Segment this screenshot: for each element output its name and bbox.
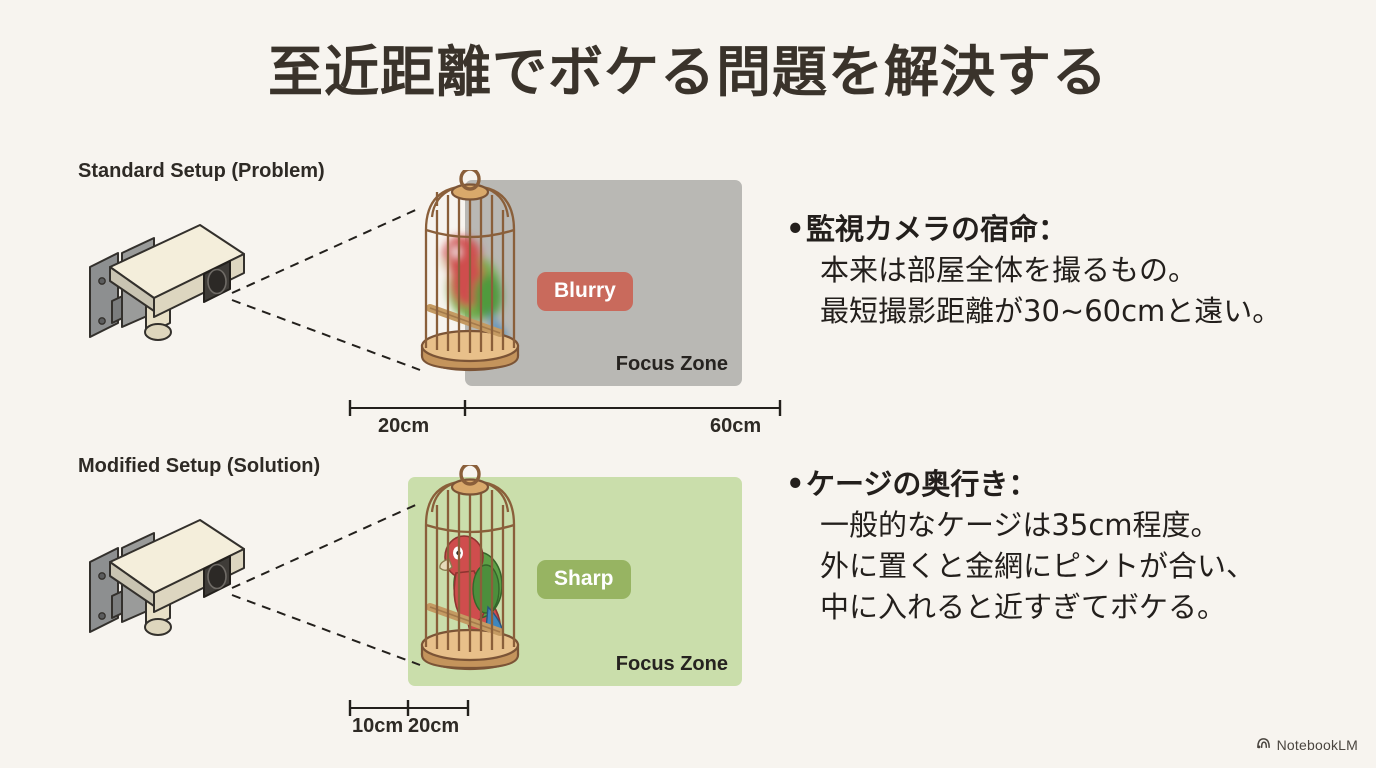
bullet-line-2-1: 一般的なケージは35cm程度。 bbox=[820, 505, 1366, 546]
ruler-label-modified-far: 20cm bbox=[408, 715, 459, 738]
panel-modified-setup: Modified Setup (Solution) Focus Zone bbox=[0, 455, 800, 745]
panel-standard-setup: Standard Setup (Problem) Focus Zone bbox=[0, 160, 800, 440]
cctv-camera-modified bbox=[72, 500, 262, 655]
ruler-label-standard-near: 20cm bbox=[378, 415, 429, 438]
cctv-camera-standard bbox=[72, 205, 262, 360]
bullet-dot-icon: • bbox=[786, 463, 806, 505]
bullet-heading-2: ケージの奥行き： bbox=[806, 463, 1037, 505]
quality-badge-blurry: Blurry bbox=[537, 272, 633, 311]
distance-ruler-standard: 20cm 60cm bbox=[340, 398, 800, 450]
distance-ruler-modified: 10cm 20cm bbox=[340, 698, 800, 750]
quality-badge-sharp: Sharp bbox=[537, 560, 631, 599]
bullet-line-1-1: 本来は部屋全体を撮るもの。 bbox=[820, 250, 1366, 291]
panel-label-modified: Modified Setup (Solution) bbox=[78, 455, 320, 478]
focus-zone-label-modified: Focus Zone bbox=[616, 653, 728, 676]
bullet-line-1-2: 最短撮影距離が30~60cmと遠い。 bbox=[820, 291, 1366, 332]
notebooklm-watermark: NotebookLM bbox=[1256, 736, 1358, 754]
bullet-lines-1: 本来は部屋全体を撮るもの。 最短撮影距離が30~60cmと遠い。 bbox=[820, 250, 1366, 332]
focus-zone-label-standard: Focus Zone bbox=[616, 353, 728, 376]
panel-label-standard: Standard Setup (Problem) bbox=[78, 160, 325, 183]
bullet-heading-1-row: • 監視カメラの宿命： bbox=[786, 208, 1366, 250]
page-title: 至近距離でボケる問題を解決する bbox=[0, 42, 1376, 103]
bullet-dot-icon: • bbox=[786, 208, 806, 250]
ruler-label-modified-near: 10cm bbox=[352, 715, 403, 738]
bullet-block-1: • 監視カメラの宿命： 本来は部屋全体を撮るもの。 最短撮影距離が30~60cm… bbox=[786, 208, 1366, 332]
notebooklm-label: NotebookLM bbox=[1277, 737, 1358, 753]
bullet-block-2: • ケージの奥行き： 一般的なケージは35cm程度。 外に置くと金網にピントが合… bbox=[786, 463, 1366, 629]
bullet-line-2-3: 中に入れると近すぎてボケる。 bbox=[820, 587, 1366, 628]
ruler-label-standard-far: 60cm bbox=[710, 415, 761, 438]
bullet-line-2-2: 外に置くと金網にピントが合い、 bbox=[820, 546, 1366, 587]
bullet-lines-2: 一般的なケージは35cm程度。 外に置くと金網にピントが合い、 中に入れると近す… bbox=[820, 505, 1366, 629]
birdcage-modified bbox=[404, 465, 536, 683]
bullet-heading-2-row: • ケージの奥行き： bbox=[786, 463, 1366, 505]
bullet-heading-1: 監視カメラの宿命： bbox=[806, 208, 1067, 250]
notebooklm-logo-icon bbox=[1256, 736, 1271, 754]
birdcage-standard bbox=[404, 170, 536, 385]
